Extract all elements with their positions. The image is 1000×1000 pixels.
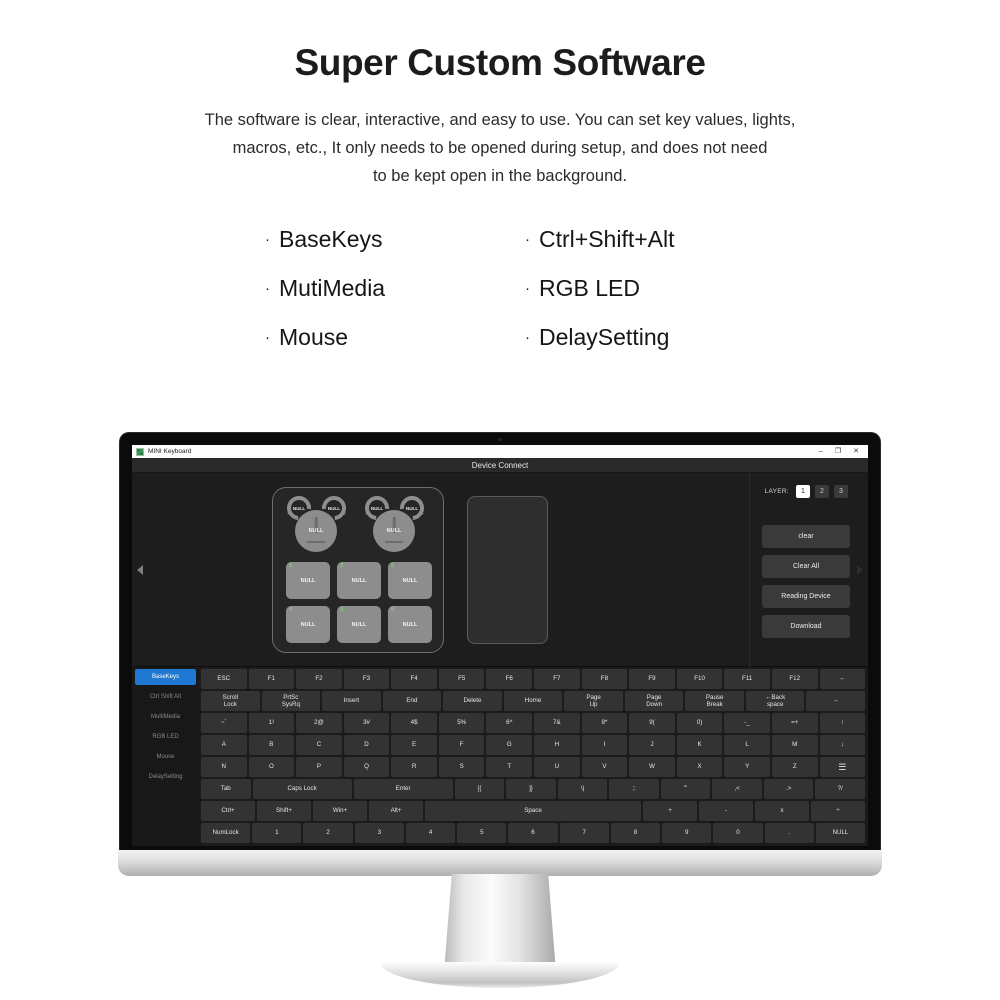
key-g[interactable]: G <box>486 735 532 755</box>
key-f3[interactable]: F3 <box>344 669 390 689</box>
key-label: - <box>725 807 727 815</box>
sidebar-tabs: BaseKeys Ctrl Shift Alt MultiMedia RGB L… <box>132 667 199 846</box>
key-[interactable]: ← <box>820 669 866 689</box>
macro-pad-device: NULL NULL NULL <box>272 487 444 653</box>
key-6[interactable]: 6 <box>508 823 557 843</box>
monitor-screen: MINI Keyboard – ❐ ✕ Device Connect LAYER… <box>132 445 868 846</box>
key-label: I <box>604 741 606 749</box>
key-label: 5 <box>480 829 483 837</box>
key-label: ~` <box>221 719 227 727</box>
layer-label: LAYER: <box>765 488 789 495</box>
key-n[interactable]: N <box>201 757 247 777</box>
key-label: L <box>745 741 748 749</box>
feature-item-basekeys: · BaseKeys <box>265 226 525 253</box>
feature-item-rgb-led: · RGB LED <box>525 275 735 302</box>
key-win[interactable]: Win+ <box>313 801 367 821</box>
key-label: F12 <box>789 675 800 683</box>
sidebar-item-multimedia[interactable]: MultiMedia <box>135 709 196 725</box>
key-numlock[interactable]: NumLock <box>201 823 250 843</box>
macro-key-2[interactable]: 2 NULL <box>337 562 381 599</box>
key-[interactable]: - <box>699 801 753 821</box>
key-label: 2@ <box>314 719 324 727</box>
key-label: F11 <box>742 675 752 683</box>
key-sublabel: space <box>767 701 784 709</box>
key-alt[interactable]: Alt+ <box>369 801 423 821</box>
keyboard-row: ABCDEFGHIJKLM↓ <box>201 735 865 755</box>
key-c[interactable]: C <box>296 735 342 755</box>
knob-label: NULL <box>387 528 402 534</box>
key-x[interactable]: x <box>755 801 809 821</box>
key-label: ↑ <box>841 719 844 727</box>
prev-device-arrow-icon[interactable] <box>137 565 143 575</box>
key-f2[interactable]: F2 <box>296 669 342 689</box>
layer-button-2[interactable]: 2 <box>815 485 829 498</box>
key-label: 4 <box>429 829 432 837</box>
key-prtsc[interactable]: PrtScSysRq <box>262 691 321 711</box>
feature-list: · BaseKeys · Ctrl+Shift+Alt · MutiMedia … <box>265 226 735 351</box>
key-label: End <box>406 697 417 705</box>
key-insert[interactable]: Insert <box>322 691 381 711</box>
key-label: Delete <box>464 697 482 705</box>
key-i[interactable]: I <box>582 735 628 755</box>
key-label: C <box>317 741 321 749</box>
feature-item-ctrl-shift-alt: · Ctrl+Shift+Alt <box>525 226 735 253</box>
key-[interactable]: '" <box>661 779 711 799</box>
key-6[interactable]: 6^ <box>486 713 532 733</box>
macro-key-label: NULL <box>337 562 381 599</box>
key-label: M <box>792 741 797 749</box>
key-label: 0 <box>736 829 739 837</box>
key-ctrl[interactable]: Ctrl+ <box>201 801 255 821</box>
key-label: ↓ <box>841 741 844 749</box>
keyboard-row: Ctrl+Shift+Win+Alt+Space+-x÷ <box>201 801 865 821</box>
feature-label: BaseKeys <box>279 226 383 253</box>
feature-item-mutimedia: · MutiMedia <box>265 275 525 302</box>
key-1[interactable]: 1 <box>252 823 301 843</box>
menu-icon[interactable]: ☰ <box>820 757 866 777</box>
monitor-chin <box>118 850 882 876</box>
webcam-icon <box>498 438 503 441</box>
sidebar-item-ctrl-shift-alt[interactable]: Ctrl Shift Alt <box>135 689 196 705</box>
device-stage: LAYER: 1 2 3 NULL <box>132 473 868 667</box>
key-label: ;: <box>632 785 635 793</box>
key-m[interactable]: M <box>772 735 818 755</box>
feature-label: Mouse <box>279 324 348 351</box>
hero-subtitle-line-3: to be kept open in the background. <box>150 162 850 190</box>
key-label: Y <box>745 763 749 771</box>
key-back[interactable]: ←Backspace <box>746 691 805 711</box>
sidebar-item-basekeys[interactable]: BaseKeys <box>135 669 196 685</box>
knob-base-icon <box>385 541 403 544</box>
key-label: Q <box>364 763 369 771</box>
action-button-group: clear Clear All Reading Device Download <box>762 525 850 638</box>
knob-1[interactable]: NULL <box>295 510 337 552</box>
key-y[interactable]: Y <box>724 757 770 777</box>
key-[interactable]: [{ <box>455 779 505 799</box>
key-esc[interactable]: ESC <box>201 669 247 689</box>
monitor-bezel: MINI Keyboard – ❐ ✕ Device Connect LAYER… <box>120 433 880 858</box>
sidebar-item-rgb-led[interactable]: RGB LED <box>135 729 196 745</box>
hero-subtitle-line-2: macros, etc., It only needs to be opened… <box>150 134 850 162</box>
key-label: 9( <box>649 719 655 727</box>
key-label: E <box>412 741 416 749</box>
key-label: ÷ <box>836 807 839 815</box>
key-f4[interactable]: F4 <box>391 669 437 689</box>
key-a[interactable]: A <box>201 735 247 755</box>
key-label: B <box>269 741 273 749</box>
key-label: ]} <box>529 785 533 793</box>
key-[interactable]: ~` <box>201 713 247 733</box>
key-e[interactable]: E <box>391 735 437 755</box>
macro-key-grid: 1 NULL 2 NULL 3 NULL <box>286 562 432 643</box>
key-label: Z <box>793 763 797 771</box>
key-label: Enter <box>396 785 411 793</box>
key-label: NumLock <box>213 829 239 837</box>
key-label: N <box>222 763 226 771</box>
key-label: Alt+ <box>391 807 402 815</box>
feature-label: RGB LED <box>539 275 640 302</box>
key-label: 7& <box>553 719 561 727</box>
key-label: Insert <box>344 697 359 705</box>
key-shift[interactable]: Shift+ <box>257 801 311 821</box>
key-2[interactable]: 2@ <box>296 713 342 733</box>
key-label: 8* <box>601 719 607 727</box>
key-o[interactable]: O <box>249 757 295 777</box>
key-[interactable]: ↓ <box>820 735 866 755</box>
key-f11[interactable]: F11 <box>724 669 770 689</box>
close-button[interactable]: ✕ <box>853 448 859 455</box>
key-9[interactable]: 9( <box>629 713 675 733</box>
key-label: F6 <box>506 675 513 683</box>
key-x[interactable]: X <box>677 757 723 777</box>
key-label: G <box>507 741 512 749</box>
bullet-icon: · <box>525 329 530 346</box>
key-label: 1 <box>275 829 278 837</box>
key-label: 0) <box>697 719 703 727</box>
key-label: x <box>780 807 783 815</box>
macro-key-label: NULL <box>337 606 381 643</box>
key-3[interactable]: 3 <box>355 823 404 843</box>
key-[interactable]: . <box>765 823 814 843</box>
key-p[interactable]: P <box>296 757 342 777</box>
feature-item-delaysetting: · DelaySetting <box>525 324 735 351</box>
key-end[interactable]: End <box>383 691 442 711</box>
key-label: F8 <box>601 675 608 683</box>
key-label: H <box>555 741 559 749</box>
key-space[interactable]: Space <box>425 801 641 821</box>
key-[interactable]: ?/ <box>815 779 865 799</box>
key-[interactable]: + <box>643 801 697 821</box>
key-label: Page <box>586 694 600 702</box>
key-1[interactable]: 1! <box>249 713 295 733</box>
panel-divider <box>749 473 750 667</box>
key-label: R <box>412 763 416 771</box>
key-d[interactable]: D <box>344 735 390 755</box>
key-[interactable]: ,< <box>712 779 762 799</box>
feature-label: Ctrl+Shift+Alt <box>539 226 675 253</box>
key-label: O <box>269 763 274 771</box>
key-f5[interactable]: F5 <box>439 669 485 689</box>
key-7[interactable]: 7& <box>534 713 580 733</box>
monitor-stand-base <box>380 962 620 988</box>
key-f8[interactable]: F8 <box>582 669 628 689</box>
key-label: F1 <box>268 675 275 683</box>
bullet-icon: · <box>525 280 530 297</box>
key-5[interactable]: 5 <box>457 823 506 843</box>
bullet-icon: · <box>265 329 270 346</box>
key-[interactable]: =+ <box>772 713 818 733</box>
key-label: Scroll <box>223 694 238 702</box>
minimize-button[interactable]: – <box>819 448 823 455</box>
hero-subtitle: The software is clear, interactive, and … <box>150 106 850 190</box>
key-label: 2 <box>326 829 329 837</box>
key-label: F9 <box>648 675 655 683</box>
key-label: 3 <box>378 829 381 837</box>
key-pause[interactable]: PauseBreak <box>685 691 744 711</box>
key-sublabel: Up <box>590 701 598 709</box>
preview-panel[interactable] <box>467 496 548 644</box>
key-2[interactable]: 2 <box>303 823 352 843</box>
hero-subtitle-line-1: The software is clear, interactive, and … <box>150 106 850 134</box>
key-label: 6^ <box>506 719 512 727</box>
monitor-stand-neck <box>444 874 556 972</box>
key-9[interactable]: 9 <box>662 823 711 843</box>
key-delete[interactable]: Delete <box>443 691 502 711</box>
key-[interactable]: ]} <box>506 779 556 799</box>
key-label: Page <box>647 694 661 702</box>
clear-all-button[interactable]: Clear All <box>762 555 850 578</box>
key-label: [{ <box>478 785 482 793</box>
key-caps-lock[interactable]: Caps Lock <box>253 779 352 799</box>
knob-base-icon <box>307 541 325 544</box>
macro-key-label: NULL <box>388 606 432 643</box>
key-8[interactable]: 8* <box>582 713 628 733</box>
reading-device-button[interactable]: Reading Device <box>762 585 850 608</box>
key-f9[interactable]: F9 <box>629 669 675 689</box>
key-3[interactable]: 3# <box>344 713 390 733</box>
key-page[interactable]: PageUp <box>564 691 623 711</box>
layer-button-1[interactable]: 1 <box>796 485 810 498</box>
macro-key-6[interactable]: 6 NULL <box>388 606 432 643</box>
key-[interactable]: .> <box>764 779 814 799</box>
key-[interactable]: ÷ <box>811 801 865 821</box>
key-l[interactable]: L <box>724 735 770 755</box>
key-label: PrtSc <box>283 694 298 702</box>
key-[interactable]: \| <box>558 779 608 799</box>
key-0[interactable]: 0) <box>677 713 723 733</box>
key-label: ☰ <box>838 763 846 772</box>
key-[interactable]: -_ <box>724 713 770 733</box>
key-s[interactable]: S <box>439 757 485 777</box>
download-button[interactable]: Download <box>762 615 850 638</box>
key-label: J <box>650 741 653 749</box>
virtual-keyboard: ESCF1F2F3F4F5F6F7F8F9F10F11F12←ScrollLoc… <box>199 667 868 846</box>
key-label: → <box>833 697 839 705</box>
monitor-mockup: MINI Keyboard – ❐ ✕ Device Connect LAYER… <box>0 430 1000 1000</box>
key-label: F <box>460 741 464 749</box>
key-label: Home <box>525 697 542 705</box>
key-label: S <box>460 763 464 771</box>
knob-2[interactable]: NULL <box>373 510 415 552</box>
key-scroll[interactable]: ScrollLock <box>201 691 260 711</box>
key-sublabel: Down <box>646 701 662 709</box>
key-label: NULL <box>833 829 849 837</box>
config-area: BaseKeys Ctrl Shift Alt MultiMedia RGB L… <box>132 667 868 846</box>
key-enter[interactable]: Enter <box>354 779 453 799</box>
key-label: U <box>555 763 559 771</box>
sidebar-item-mouse[interactable]: Mouse <box>135 749 196 765</box>
key-4[interactable]: 4$ <box>391 713 437 733</box>
key-label: .> <box>786 785 791 793</box>
key-[interactable]: ↑ <box>820 713 866 733</box>
key-f10[interactable]: F10 <box>677 669 723 689</box>
key-label: ←Back <box>765 694 785 702</box>
key-label: 6 <box>531 829 534 837</box>
next-device-arrow-icon[interactable] <box>857 565 863 575</box>
key-f[interactable]: F <box>439 735 485 755</box>
key-home[interactable]: Home <box>504 691 563 711</box>
key-label: \| <box>581 785 584 793</box>
macro-key-label: NULL <box>388 562 432 599</box>
key-label: Shift+ <box>276 807 292 815</box>
key-sublabel: Lock <box>224 701 237 709</box>
app-logo-icon <box>136 448 144 456</box>
keyboard-row: ESCF1F2F3F4F5F6F7F8F9F10F11F12← <box>201 669 865 689</box>
key-r[interactable]: R <box>391 757 437 777</box>
bullet-icon: · <box>265 231 270 248</box>
key-label: X <box>698 763 702 771</box>
key-label: 9 <box>685 829 688 837</box>
key-label: + <box>668 807 672 815</box>
key-b[interactable]: B <box>249 735 295 755</box>
key-label: ,< <box>734 785 739 793</box>
macro-key-label: NULL <box>286 606 330 643</box>
macro-key-5[interactable]: 5 NULL <box>337 606 381 643</box>
app-title: MINI Keyboard <box>148 448 191 455</box>
keyboard-row: ScrollLockPrtScSysRqInsertEndDeleteHomeP… <box>201 691 865 711</box>
key-label: Caps Lock <box>287 785 316 793</box>
bullet-icon: · <box>265 280 270 297</box>
key-label: -_ <box>744 719 750 727</box>
keyboard-row: NumLock1234567890.NULL <box>201 823 865 843</box>
key-label: . <box>788 829 790 837</box>
page-title: Super Custom Software <box>0 0 1000 84</box>
key-0[interactable]: 0 <box>713 823 762 843</box>
key-label: Space <box>524 807 542 815</box>
key-q[interactable]: Q <box>344 757 390 777</box>
encoder-row: NULL NULL NULL <box>273 488 443 558</box>
feature-label: MutiMedia <box>279 275 385 302</box>
macro-key-3[interactable]: 3 NULL <box>388 562 432 599</box>
knob-label: NULL <box>309 528 324 534</box>
key-label: Tab <box>221 785 231 793</box>
keyboard-row: NOPQRSTUVWXYZ☰ <box>201 757 865 777</box>
key-label: 4$ <box>411 719 418 727</box>
layer-selector: LAYER: 1 2 3 <box>765 485 848 498</box>
key-j[interactable]: J <box>629 735 675 755</box>
key-label: 7 <box>583 829 586 837</box>
key-label: ESC <box>217 675 230 683</box>
key-[interactable]: ;: <box>609 779 659 799</box>
key-8[interactable]: 8 <box>611 823 660 843</box>
key-label: ?/ <box>838 785 843 793</box>
key-sublabel: Break <box>707 701 723 709</box>
key-h[interactable]: H <box>534 735 580 755</box>
key-f1[interactable]: F1 <box>249 669 295 689</box>
key-f7[interactable]: F7 <box>534 669 580 689</box>
key-label: F7 <box>553 675 560 683</box>
key-f12[interactable]: F12 <box>772 669 818 689</box>
device-connect-status: Device Connect <box>132 458 868 473</box>
key-z[interactable]: Z <box>772 757 818 777</box>
key-[interactable]: → <box>806 691 865 711</box>
bullet-icon: · <box>525 231 530 248</box>
key-t[interactable]: T <box>486 757 532 777</box>
feature-item-mouse: · Mouse <box>265 324 525 351</box>
key-label: Pause <box>706 694 724 702</box>
key-k[interactable]: K <box>677 735 723 755</box>
key-f6[interactable]: F6 <box>486 669 532 689</box>
key-4[interactable]: 4 <box>406 823 455 843</box>
key-label: W <box>649 763 655 771</box>
key-page[interactable]: PageDown <box>625 691 684 711</box>
key-label: '" <box>684 785 687 793</box>
key-label: F4 <box>410 675 417 683</box>
macro-key-label: NULL <box>286 562 330 599</box>
key-u[interactable]: U <box>534 757 580 777</box>
key-label: A <box>222 741 226 749</box>
key-label: K <box>698 741 702 749</box>
key-label: 8 <box>634 829 637 837</box>
app-titlebar: MINI Keyboard – ❐ ✕ <box>132 445 868 458</box>
key-label: 3# <box>363 719 370 727</box>
key-label: 5% <box>457 719 466 727</box>
key-sublabel: SysRq <box>282 701 300 709</box>
sidebar-item-delaysetting[interactable]: DelaySetting <box>135 769 196 785</box>
key-5[interactable]: 5% <box>439 713 485 733</box>
key-null[interactable]: NULL <box>816 823 865 843</box>
key-label: ← <box>839 675 845 683</box>
macro-key-1[interactable]: 1 NULL <box>286 562 330 599</box>
key-label: =+ <box>791 719 798 727</box>
keyboard-row: ~`1!2@3#4$5%6^7&8*9(0)-_=+↑ <box>201 713 865 733</box>
key-label: P <box>317 763 321 771</box>
key-label: F10 <box>694 675 705 683</box>
key-label: F3 <box>363 675 370 683</box>
key-v[interactable]: V <box>582 757 628 777</box>
page-root: Super Custom Software The software is cl… <box>0 0 1000 1000</box>
key-label: V <box>602 763 606 771</box>
window-controls: – ❐ ✕ <box>819 448 864 455</box>
key-7[interactable]: 7 <box>560 823 609 843</box>
key-label: F5 <box>458 675 465 683</box>
key-label: F2 <box>315 675 322 683</box>
maximize-button[interactable]: ❐ <box>835 448 841 455</box>
clear-button[interactable]: clear <box>762 525 850 548</box>
macro-key-4[interactable]: 4 NULL <box>286 606 330 643</box>
key-label: Win+ <box>333 807 347 815</box>
key-tab[interactable]: Tab <box>201 779 251 799</box>
key-label: D <box>364 741 368 749</box>
key-w[interactable]: W <box>629 757 675 777</box>
key-label: 1! <box>269 719 274 727</box>
layer-button-3[interactable]: 3 <box>834 485 848 498</box>
key-label: T <box>507 763 511 771</box>
keyboard-row: TabCaps LockEnter[{]}\|;:'",<.>?/ <box>201 779 865 799</box>
feature-label: DelaySetting <box>539 324 669 351</box>
key-label: Ctrl+ <box>221 807 234 815</box>
